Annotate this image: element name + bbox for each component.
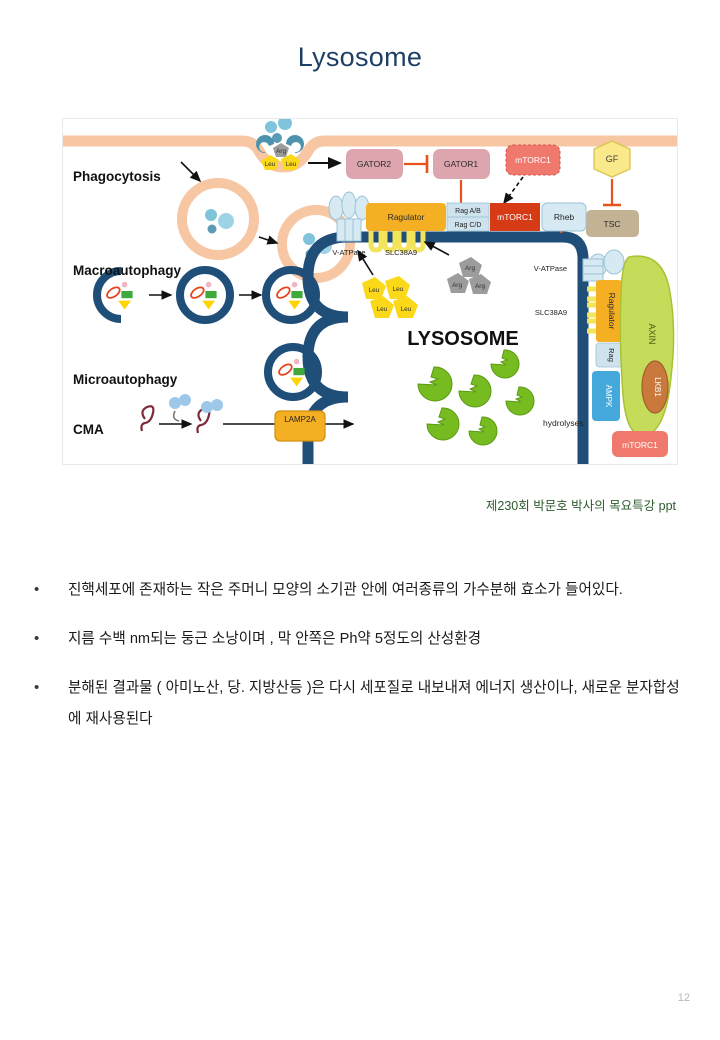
lysosome-diagram: LAMP2A Arg Leu Leu GATOR2 <box>62 118 678 465</box>
arrow-arg-to-slc38a9 <box>425 242 449 255</box>
label-macroautophagy: Macroautophagy <box>73 263 182 278</box>
rheb-box: Rheb <box>542 203 586 231</box>
hydrolase-3 <box>491 350 519 378</box>
lamp2a-label: LAMP2A <box>284 415 316 424</box>
arg-cluster-lumen: Arg Arg Arg <box>447 257 491 294</box>
bullet-text: 진핵세포에 존재하는 작은 주머니 모양의 소기관 안에 여러종류의 가수분해 … <box>68 575 690 606</box>
slc38a9-left-label: SLC38A9 <box>385 248 417 257</box>
label-phagocytosis: Phagocytosis <box>73 169 161 184</box>
rag-right-box: Rag <box>596 343 622 367</box>
mtorc1-right-label: mTORC1 <box>622 440 658 450</box>
mtorc1-cytosolic-label: mTORC1 <box>515 155 551 165</box>
label-cma: CMA <box>73 422 104 437</box>
leu-cluster-lumen: Leu Leu Leu Leu <box>362 276 418 318</box>
cma-chaperone <box>169 394 191 421</box>
ampk-box: AMPK <box>592 371 620 421</box>
arrow-phagosome-to-lysosome <box>259 237 277 243</box>
page-title: Lysosome <box>0 42 720 73</box>
ampk-label: AMPK <box>604 385 613 408</box>
list-item: • 분해된 결과물 ( 아미노산, 당. 지방산등 )은 다시 세포질로 내보내… <box>30 673 690 735</box>
ragulator-left: Ragulator <box>366 203 446 231</box>
rheb-label: Rheb <box>554 212 575 222</box>
page-number: 12 <box>678 992 690 1004</box>
tsc-label: TSC <box>604 219 621 229</box>
hydrolyses-group <box>418 350 534 445</box>
gator1-label: GATOR1 <box>444 159 478 169</box>
arrow-mtorc1-translocation <box>504 177 523 203</box>
label-microautophagy: Microautophagy <box>73 372 178 387</box>
mtorc1-membrane-label: mTORC1 <box>497 212 533 222</box>
list-item: • 진핵세포에 존재하는 작은 주머니 모양의 소기관 안에 여러종류의 가수분… <box>30 575 690 606</box>
arg-lumen-label-3: Arg <box>475 283 486 290</box>
rag-ab-label: Rag A/B <box>455 208 481 215</box>
gf-inhibits-tsc <box>603 179 621 205</box>
lysosome-label: LYSOSOME <box>407 328 519 350</box>
arg-lumen-label-1: Arg <box>465 265 476 272</box>
ragulator-right: Ragulator <box>596 280 622 342</box>
lkb1-label: LKB1 <box>653 377 662 397</box>
hydrolase-5 <box>427 408 459 440</box>
autophagosome-open <box>97 271 133 319</box>
rag-right-label: Rag <box>607 348 616 362</box>
mtorc1-membrane-box: mTORC1 <box>490 203 540 231</box>
hydrolase-6 <box>469 417 497 445</box>
figure-caption: 제230회 박문호 박사의 목요특강 ppt <box>0 495 676 514</box>
arg-lumen-label-2: Arg <box>452 282 463 289</box>
gf-hexagon: GF <box>594 141 630 177</box>
diagram-svg: LAMP2A Arg Leu Leu GATOR2 <box>63 119 677 464</box>
bullet-text: 분해된 결과물 ( 아미노산, 당. 지방산등 )은 다시 세포질로 내보내져 … <box>68 673 690 735</box>
ragulator-left-label: Ragulator <box>388 212 425 222</box>
list-item: • 지름 수백 nm되는 둥근 소낭이며 , 막 안쪽은 Ph약 5정도의 산성… <box>30 624 690 655</box>
leu-lumen-label-1: Leu <box>369 287 380 294</box>
gf-label: GF <box>606 154 619 164</box>
mtorc1-right-box: mTORC1 <box>612 431 668 457</box>
cma-substrate-1 <box>141 406 153 431</box>
rag-cd-label: Rag C/D <box>455 222 482 229</box>
phagosome-vesicle-1 <box>182 183 254 255</box>
rag-ab-cd-box: Rag A/B Rag C/D <box>447 203 489 231</box>
lamp2a-channel: LAMP2A <box>275 411 325 441</box>
cma-substrate-2 <box>197 399 223 433</box>
hydrolase-4 <box>506 387 534 415</box>
leu-label-outer-2: Leu <box>286 161 297 168</box>
hydrolase-2 <box>459 375 491 407</box>
lkb1-blob: LKB1 <box>642 361 668 413</box>
ragulator-right-label: Ragulator <box>607 293 617 330</box>
arrow-membrane-to-phagosome <box>181 162 200 181</box>
tsc-box: TSC <box>586 210 639 237</box>
gator2-inhibits-gator1 <box>404 155 427 173</box>
slc38a9-right-label: SLC38A9 <box>535 308 567 317</box>
v-atpase-right-label: V-ATPase <box>534 264 567 273</box>
hydrolyses-label: hydrolyses <box>543 418 584 428</box>
gator2-box: GATOR2 <box>346 149 403 179</box>
v-atpase-right <box>583 250 624 281</box>
bullet-marker: • <box>30 575 68 606</box>
arg-label-outer: Arg <box>276 148 287 155</box>
bullet-marker: • <box>30 673 68 735</box>
leu-lumen-label-2: Leu <box>393 286 404 293</box>
bullet-marker: • <box>30 624 68 655</box>
gator2-label: GATOR2 <box>357 159 391 169</box>
leu-label-outer-1: Leu <box>265 161 276 168</box>
axin-blob: AXIN <box>620 256 673 436</box>
bullet-text: 지름 수백 nm되는 둥근 소낭이며 , 막 안쪽은 Ph약 5정도의 산성환경 <box>68 624 690 655</box>
leu-lumen-label-4: Leu <box>401 306 412 313</box>
hydrolase-1 <box>418 367 452 401</box>
gator1-box: GATOR1 <box>433 149 490 179</box>
slide-root: Lysosome <box>0 0 720 1040</box>
autophagosome-closed <box>180 270 230 320</box>
axin-label: AXIN <box>647 323 657 344</box>
leu-lumen-label-3: Leu <box>377 306 388 313</box>
mtorc1-cytosolic-box: mTORC1 <box>506 145 560 175</box>
bullet-list: • 진핵세포에 존재하는 작은 주머니 모양의 소기관 안에 여러종류의 가수분… <box>30 575 690 753</box>
